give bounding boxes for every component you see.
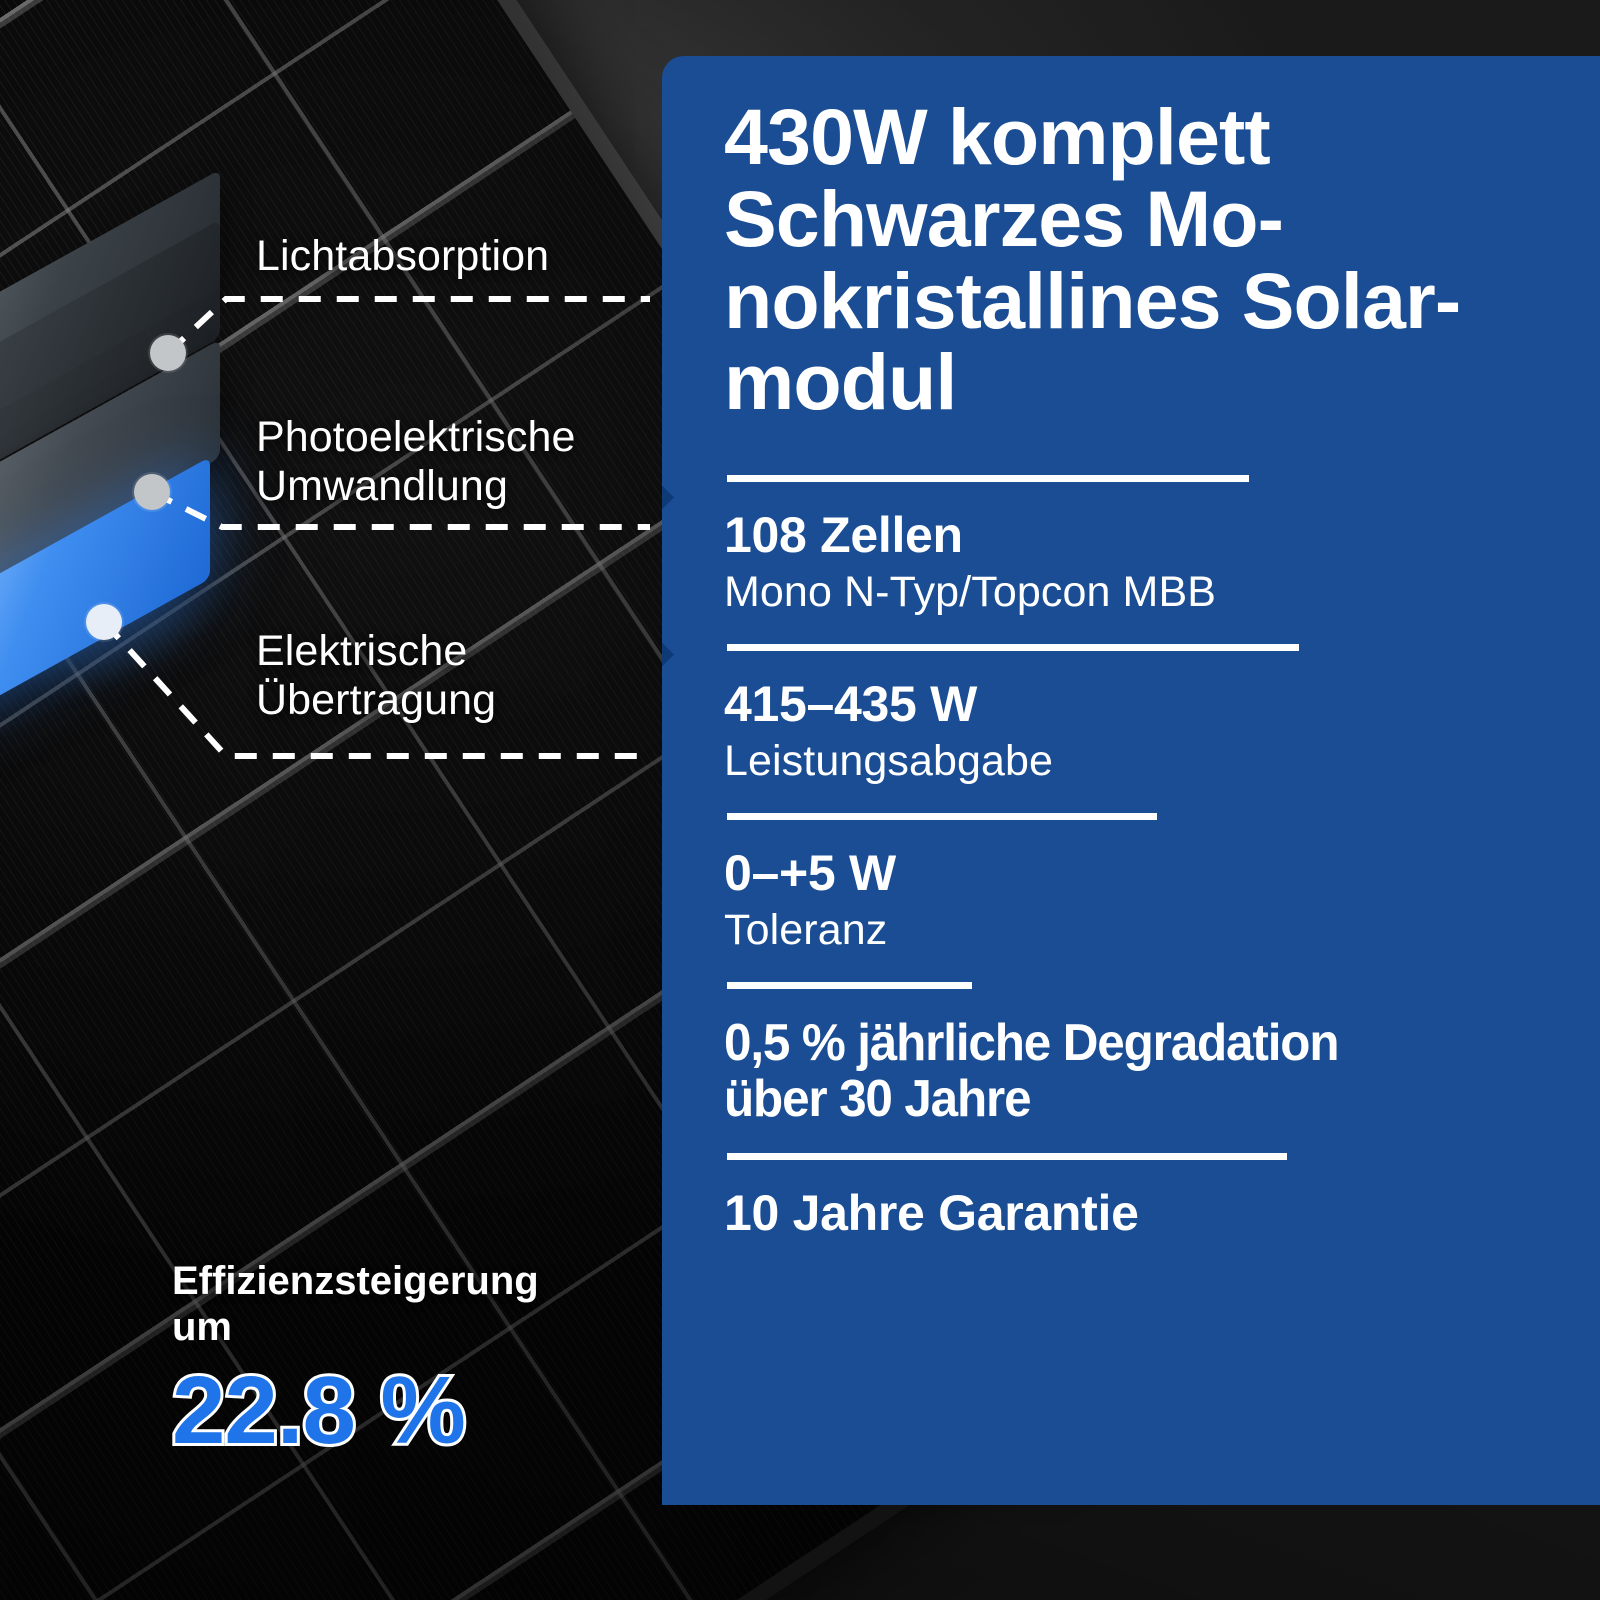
- spec-subtitle: Mono N-Typ/Topcon MBB: [724, 568, 1580, 618]
- spec-item-degradation: 0,5 % jährliche Degradation über 30 Jahr…: [724, 1015, 1580, 1127]
- efficiency-label: Effizienzsteigerung um: [172, 1258, 632, 1351]
- spec-title: 0–+5 W: [724, 846, 1580, 900]
- spec-title: 0,5 % jährliche Degradation über 30 Jahr…: [724, 1015, 1537, 1127]
- spec-title: 415–435 W: [724, 677, 1580, 731]
- efficiency-value: 22.8 %: [172, 1363, 632, 1459]
- spec-divider-2: [727, 644, 1299, 651]
- callout-dot-1: [150, 335, 186, 371]
- spec-divider-4: [727, 982, 972, 989]
- spec-item-cells: 108 Zellen Mono N-Typ/Topcon MBB: [724, 508, 1580, 618]
- spec-item-tolerance: 0–+5 W Toleranz: [724, 846, 1580, 956]
- spec-divider-3: [727, 813, 1157, 820]
- spec-subtitle: Leistungsabgabe: [724, 737, 1580, 787]
- spec-divider-1: [727, 475, 1249, 482]
- spec-item-power-output: 415–435 W Leistungsabgabe: [724, 677, 1580, 787]
- callout-dot-2: [134, 474, 170, 510]
- callout-label-lichtabsorption: Lichtabsorption: [256, 232, 549, 281]
- spec-subtitle: Toleranz: [724, 906, 1580, 956]
- callout-label-elektrische-uebertragung: Elektrische Übertragung: [256, 627, 496, 724]
- callout-label-photoelektrische-umwandlung: Photoelektrische Umwandlung: [256, 413, 576, 510]
- product-title: 430W komplett Schwarzes Mo- nokristallin…: [724, 96, 1554, 423]
- spec-divider-5: [727, 1153, 1287, 1160]
- spec-list: 108 Zellen Mono N-Typ/Topcon MBB 415–435…: [724, 475, 1580, 1266]
- spec-title: 10 Jahre Garantie: [724, 1186, 1580, 1240]
- product-infographic: Lichtabsorption Photoelektrische Umwandl…: [0, 0, 1600, 1600]
- spec-title: 108 Zellen: [724, 508, 1580, 562]
- callout-dot-3: [86, 604, 122, 640]
- spec-item-warranty: 10 Jahre Garantie: [724, 1186, 1580, 1240]
- efficiency-block: Effizienzsteigerung um 22.8 %: [172, 1258, 632, 1459]
